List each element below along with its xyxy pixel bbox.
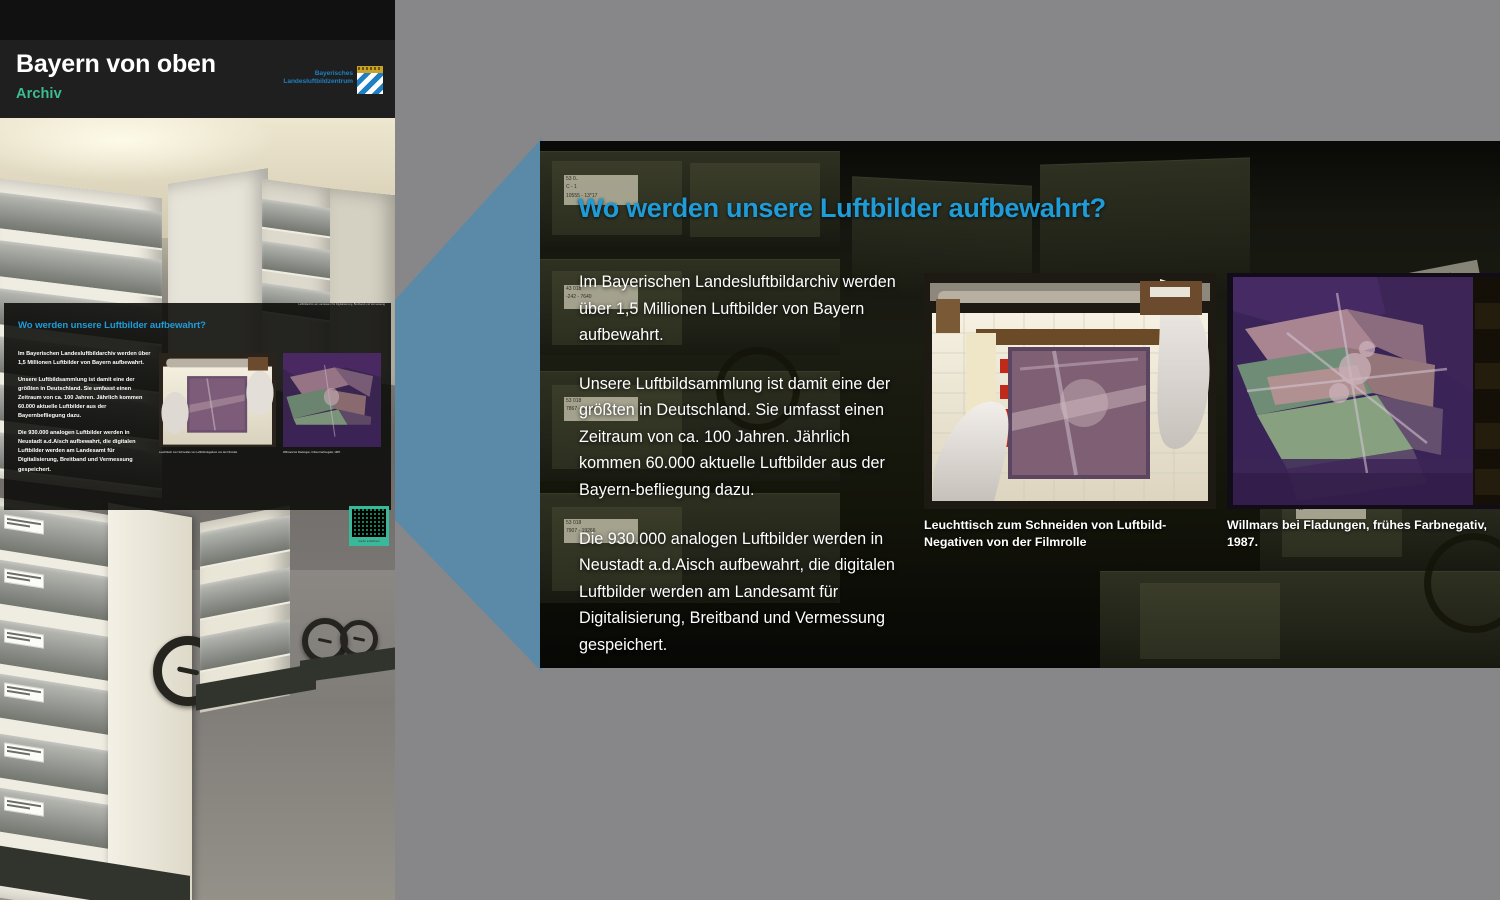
poster-panel-title: Wo werden unsere Luftbilder aufbewahrt? [18,320,206,331]
poster-title: Bayern von oben [16,50,216,79]
detail-figure-caption-2: Willmars bei Fladungen, frühes Farbnegat… [1227,517,1500,550]
qr-code-caption: mehr erfahren [352,537,386,543]
zoom-callout-connector [390,138,542,672]
detail-figure-light-table: Leuchttisch zum Schneiden von Luftbild-N… [924,273,1216,550]
poster-paragraph-2: Unsere Luftbildsammlung ist damit eine d… [18,376,153,421]
light-table-photo-icon [924,273,1216,509]
logo-text: Bayerisches Landesluftbildzentrum [283,66,353,86]
poster-figure-light-table [159,353,276,447]
aerial-negative-photo-icon [283,353,381,447]
poster-paragraph-3: Die 930.000 analogen Luftbilder werden i… [18,429,153,474]
poster-header: Bayern von oben Archiv Bayerisches Lande… [0,40,395,118]
logo-line-2: Landesluftbildzentrum [283,78,353,86]
poster-caption-2: Willmars bei Fladungen, frühes Farbnegat… [283,451,381,455]
poster-panel-body: Im Bayerischen Landesluftbildarchiv werd… [18,350,153,483]
bavarian-coat-of-arms-icon [357,66,383,94]
qr-code-icon [352,509,386,537]
detail-figure-caption-1: Leuchttisch zum Schneiden von Luftbild-N… [924,517,1216,550]
detail-paragraph-3: Die 930.000 analogen Luftbilder werden i… [579,526,909,659]
detail-paragraph-1: Im Bayerischen Landesluftbildarchiv werd… [579,269,909,349]
poster-paragraph-1: Im Bayerischen Landesluftbildarchiv werd… [18,350,153,368]
detail-figure-aerial-negative: Willmars bei Fladungen, frühes Farbnegat… [1227,273,1500,550]
detail-panel-body: Im Bayerischen Landesluftbildarchiv werd… [579,269,909,658]
aerial-negative-photo-icon [1227,273,1500,509]
poster-caption-1: Leuchttisch zum Schneiden von Luftbild-N… [159,451,276,455]
poster-figure-aerial-negative [283,353,381,447]
light-table-photo-icon [159,353,276,447]
zoomed-detail-panel: 53 0..C - 110555 - 13*17 43 018-242 - 76… [540,141,1500,668]
detail-paragraph-2: Unsere Luftbildsammlung ist damit eine d… [579,371,909,504]
poster-subtitle: Archiv [16,86,62,102]
logo-line-1: Bayerisches [283,70,353,78]
poster-info-panel: Luftbildarchiv am Landesamt für Digitali… [4,303,391,510]
bg-archive-box [1140,583,1280,659]
logo-block: Bayerisches Landesluftbildzentrum [283,66,383,94]
poster-photo-credit: Luftbildarchiv am Landesamt für Digitali… [275,303,385,315]
detail-panel-title: Wo werden unsere Luftbilder aufbewahrt? [578,193,1106,224]
qr-code-badge[interactable]: mehr erfahren [349,506,389,546]
exhibition-poster: mehr erfahren Luftbildarchiv am Landesam… [0,0,395,900]
